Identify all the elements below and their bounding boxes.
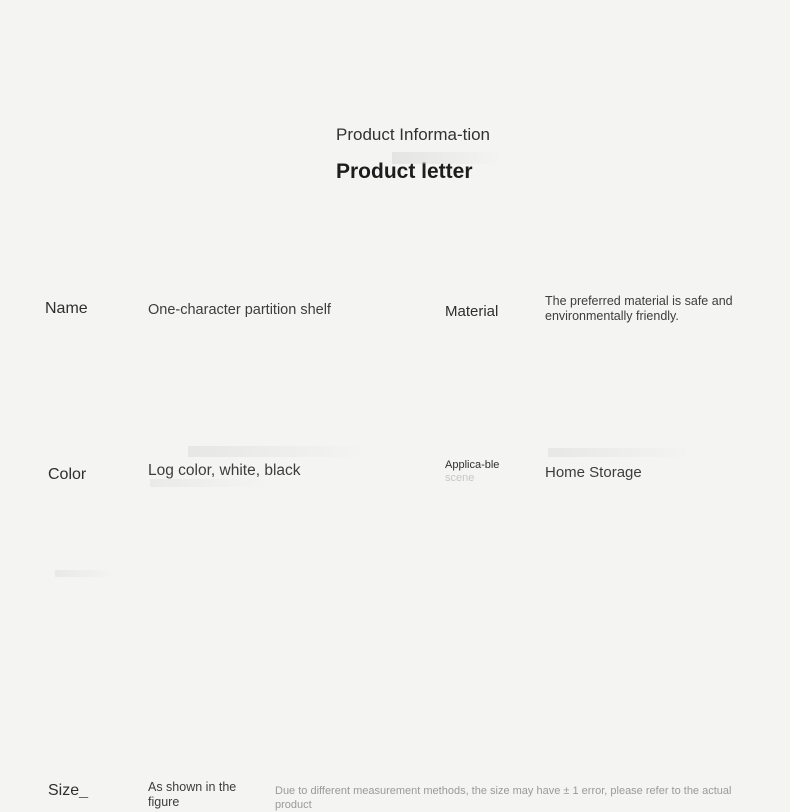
header-subtitle: Product Informa-tion — [336, 124, 506, 145]
page-header: Product Informa-tion Product letter — [336, 124, 506, 185]
ghost-artifact-size-row — [55, 570, 115, 577]
row-divider — [33, 326, 745, 328]
row-value-material: The preferred material is safe and envir… — [545, 294, 745, 324]
ghost-artifact-color-row — [188, 446, 368, 457]
row-divider — [33, 809, 745, 811]
specification-table: Name One-character partition shelf Mater… — [0, 276, 790, 608]
row-label-size: Size_ — [48, 781, 88, 800]
row-label-applicable-scene-faded: scene — [445, 472, 503, 485]
ghost-artifact-home-row — [548, 448, 693, 457]
row-value-name: One-character partition shelf — [148, 301, 428, 319]
page-title: Product letter — [336, 159, 506, 185]
row-label-color: Color — [48, 465, 86, 484]
table-row: Size_ As shown in the figure Due to diff… — [0, 490, 790, 608]
row-label-name: Name — [45, 299, 88, 318]
table-row: Color Log color, white, black Applica-bl… — [0, 334, 790, 490]
row-label-material: Material — [445, 302, 498, 321]
row-value-applicable-scene: Home Storage — [545, 464, 745, 482]
row-note-size: Due to different measurement methods, th… — [275, 784, 755, 812]
row-label-applicable-scene-text: Applica-ble — [445, 459, 503, 472]
ghost-artifact-color-row-2 — [150, 479, 270, 487]
row-label-applicable-scene: Applica-ble scene — [445, 459, 503, 485]
table-row: Name One-character partition shelf Mater… — [0, 276, 790, 334]
product-info-page: Product Informa-tion Product letter Name… — [0, 0, 790, 629]
row-label-size-tail: _ — [79, 782, 88, 799]
row-value-size: As shown in the figure — [148, 780, 258, 810]
row-label-size-text: Size — [48, 782, 79, 799]
row-value-color: Log color, white, black — [148, 462, 418, 480]
